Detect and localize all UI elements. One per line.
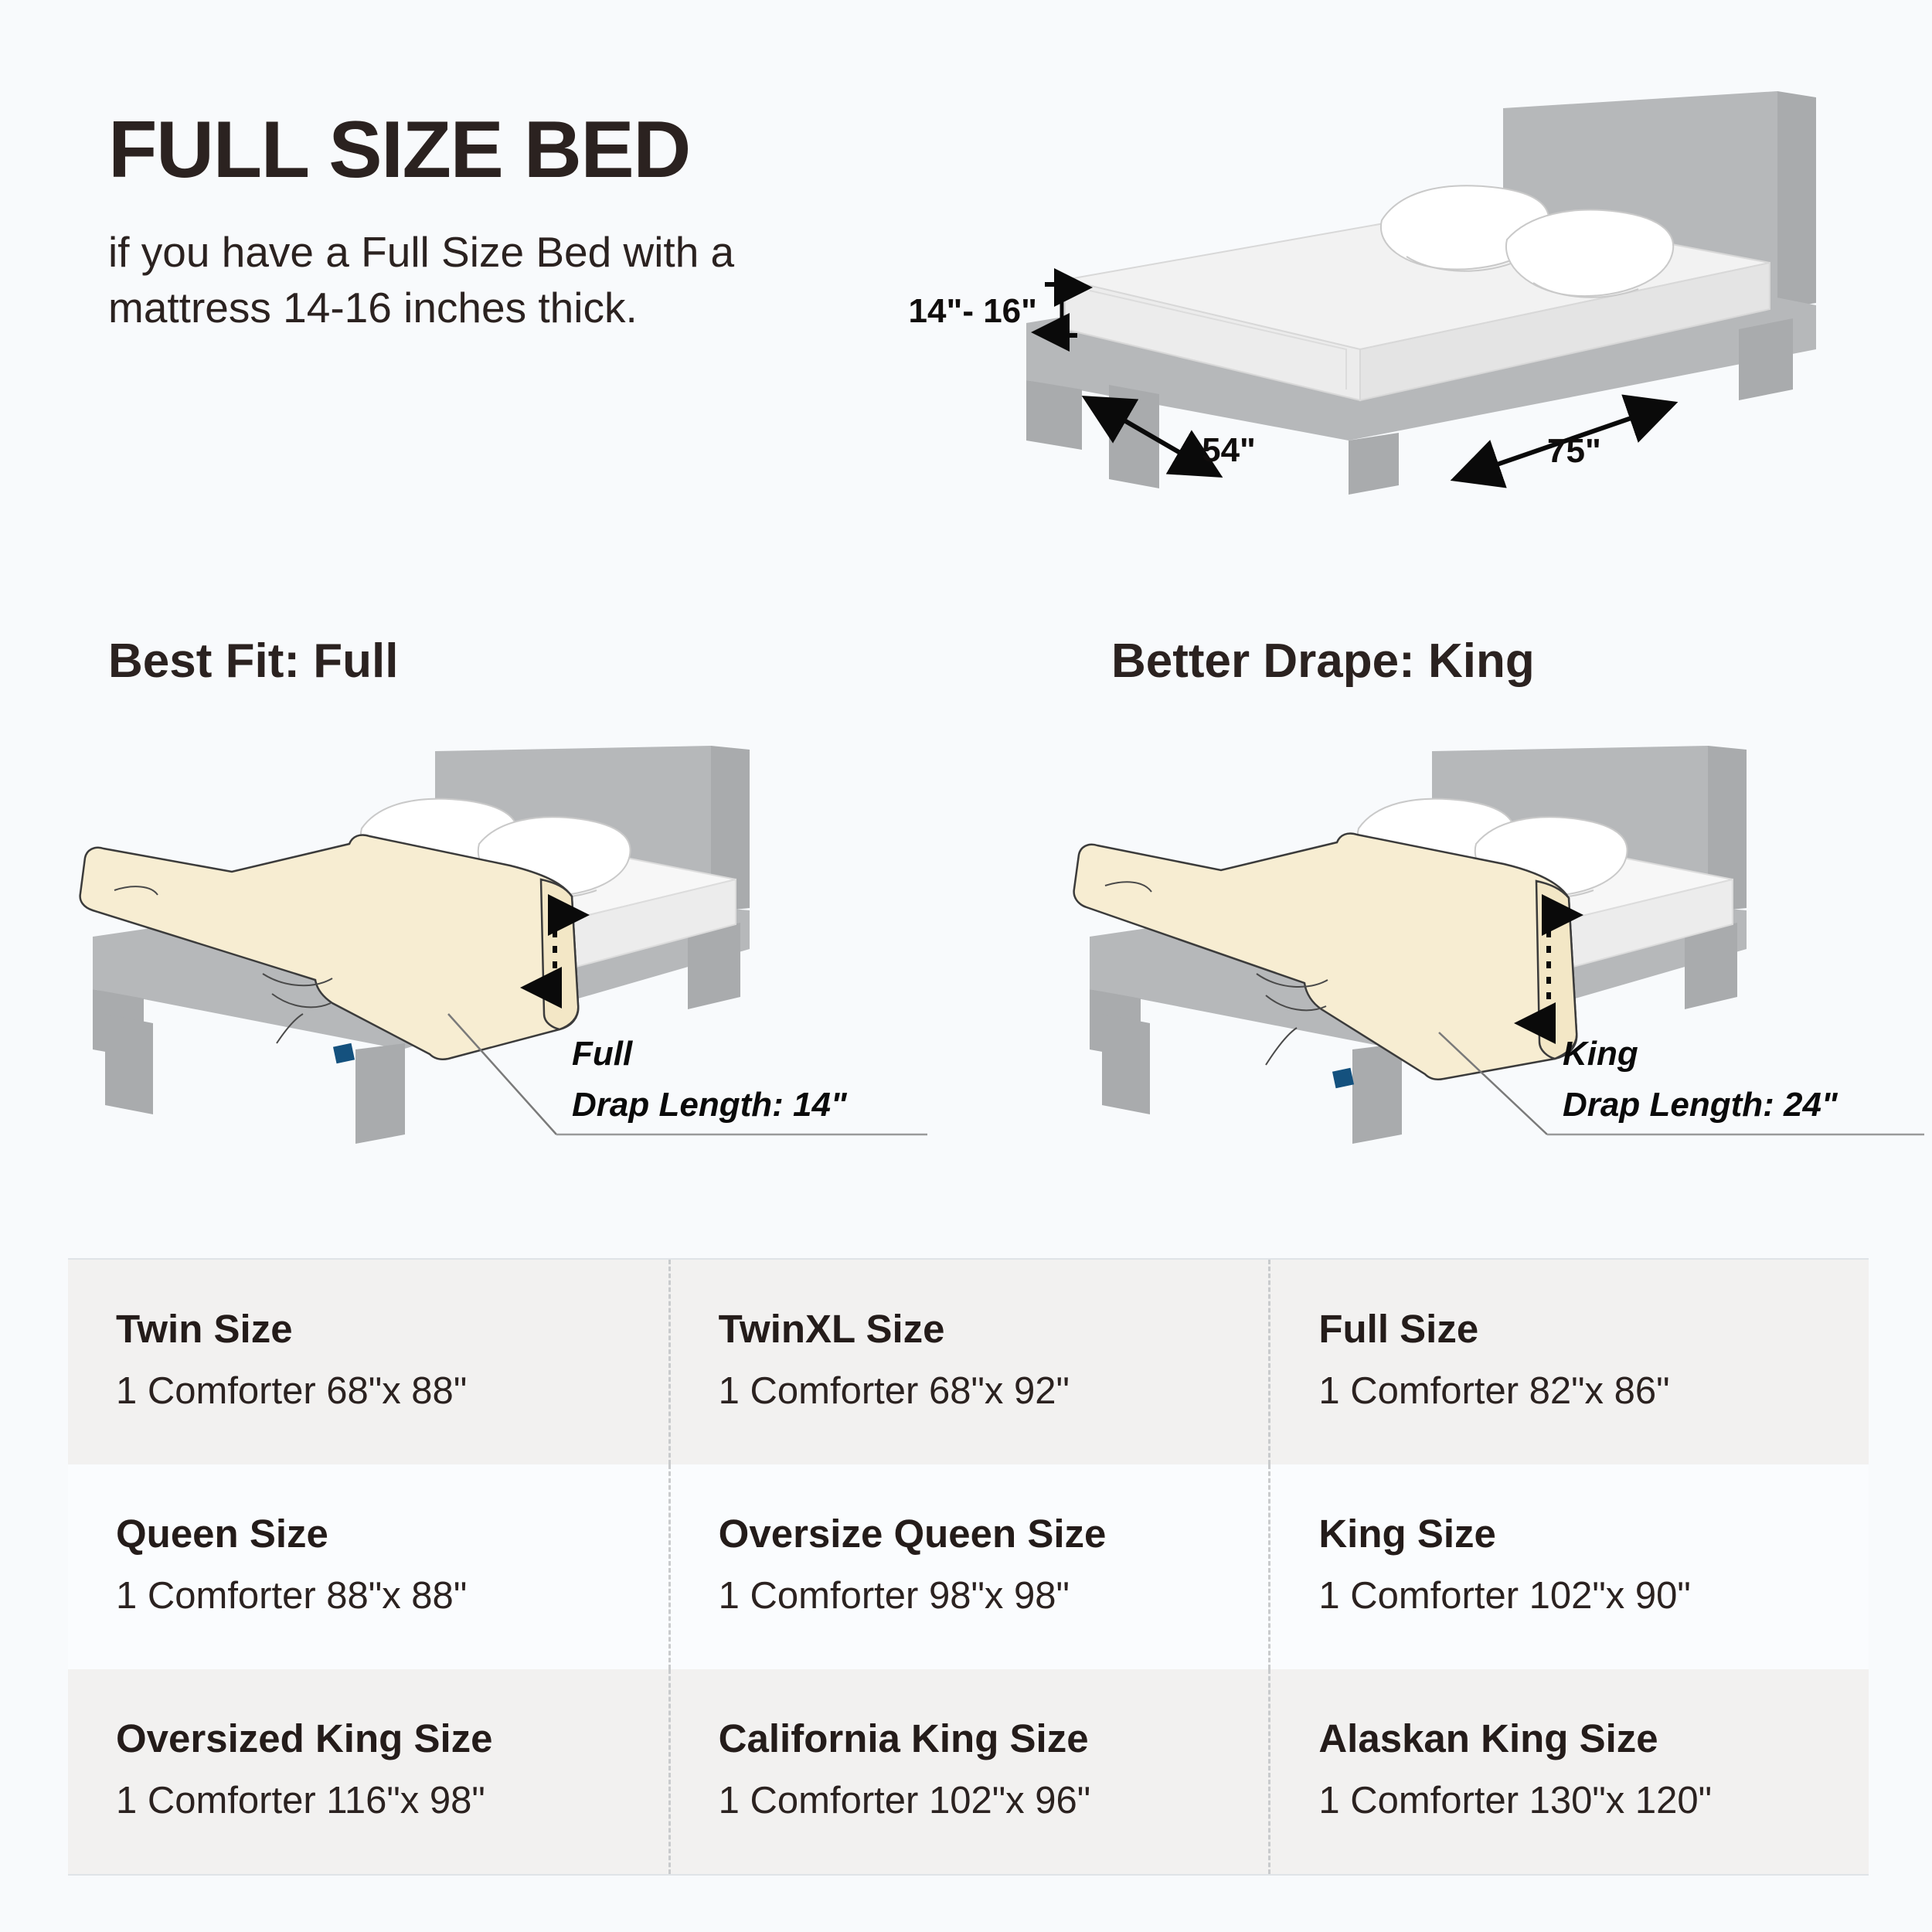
cell-subtitle: 1 Comforter 116"x 98" [116,1781,668,1822]
width-label: 54" [1202,431,1256,469]
brand-tag [1332,1068,1354,1089]
cell-title: Queen Size [116,1512,668,1556]
cell-title: California King Size [719,1717,1269,1760]
table-cell: King Size 1 Comforter 102"x 90" [1268,1464,1869,1669]
cell-subtitle: 1 Comforter 82"x 86" [1318,1371,1869,1413]
cell-title: Oversized King Size [116,1717,668,1760]
table-row: Twin Size 1 Comforter 68"x 88" TwinXL Si… [68,1260,1869,1464]
table-cell: TwinXL Size 1 Comforter 68"x 92" [668,1260,1269,1464]
table-row: Queen Size 1 Comforter 88"x 88" Oversize… [68,1464,1869,1669]
cell-subtitle: 1 Comforter 98"x 98" [719,1576,1269,1617]
table-cell: California King Size 1 Comforter 102"x 9… [668,1669,1269,1874]
best-fit-heading: Best Fit: Full [108,634,398,689]
infographic-root: FULL SIZE BED if you have a Full Size Be… [0,0,1932,1932]
page-title: FULL SIZE BED [108,108,920,192]
cell-subtitle: 1 Comforter 68"x 88" [116,1371,668,1413]
king-comforter-illustration: King Drap Length: 24" [1074,742,1924,1175]
table-cell: Oversized King Size 1 Comforter 116"x 98… [68,1669,668,1874]
cell-title: King Size [1318,1512,1869,1556]
cell-subtitle: 1 Comforter 68"x 92" [719,1371,1269,1413]
better-drape-heading: Better Drape: King [1111,634,1535,689]
cell-title: Alaskan King Size [1318,1717,1869,1760]
table-cell: Alaskan King Size 1 Comforter 130"x 120" [1268,1669,1869,1874]
king-callout-line1: King [1563,1035,1638,1073]
table-cell: Oversize Queen Size 1 Comforter 98"x 98" [668,1464,1269,1669]
full-callout-line2: Drap Length: 14" [572,1086,848,1124]
cell-title: Twin Size [116,1308,668,1351]
king-callout-line2: Drap Length: 24" [1563,1086,1838,1124]
full-comforter-illustration: Full Drap Length: 14" [77,742,927,1175]
length-dimension: 75" [1459,405,1669,478]
cell-subtitle: 1 Comforter 130"x 120" [1318,1781,1869,1822]
cell-title: TwinXL Size [719,1308,1269,1351]
cell-title: Oversize Queen Size [719,1512,1269,1556]
cell-subtitle: 1 Comforter 102"x 90" [1318,1576,1869,1617]
length-label: 75" [1547,432,1601,470]
cell-subtitle: 1 Comforter 88"x 88" [116,1576,668,1617]
height-label: 14"- 16" [909,292,1037,330]
table-cell: Full Size 1 Comforter 82"x 86" [1268,1260,1869,1464]
table-cell: Queen Size 1 Comforter 88"x 88" [68,1464,668,1669]
header-block: FULL SIZE BED if you have a Full Size Be… [108,108,920,335]
cell-title: Full Size [1318,1308,1869,1351]
full-callout-line1: Full [572,1035,633,1073]
hero-bed-diagram: 14"- 16" 54" 75" [997,77,1909,556]
page-subtitle: if you have a Full Size Bed with a mattr… [108,225,881,335]
table-row: Oversized King Size 1 Comforter 116"x 98… [68,1669,1869,1874]
cell-subtitle: 1 Comforter 102"x 96" [719,1781,1269,1822]
comforter-size-table: Twin Size 1 Comforter 68"x 88" TwinXL Si… [68,1258,1869,1876]
brand-tag [333,1043,355,1064]
table-cell: Twin Size 1 Comforter 68"x 88" [68,1260,668,1464]
